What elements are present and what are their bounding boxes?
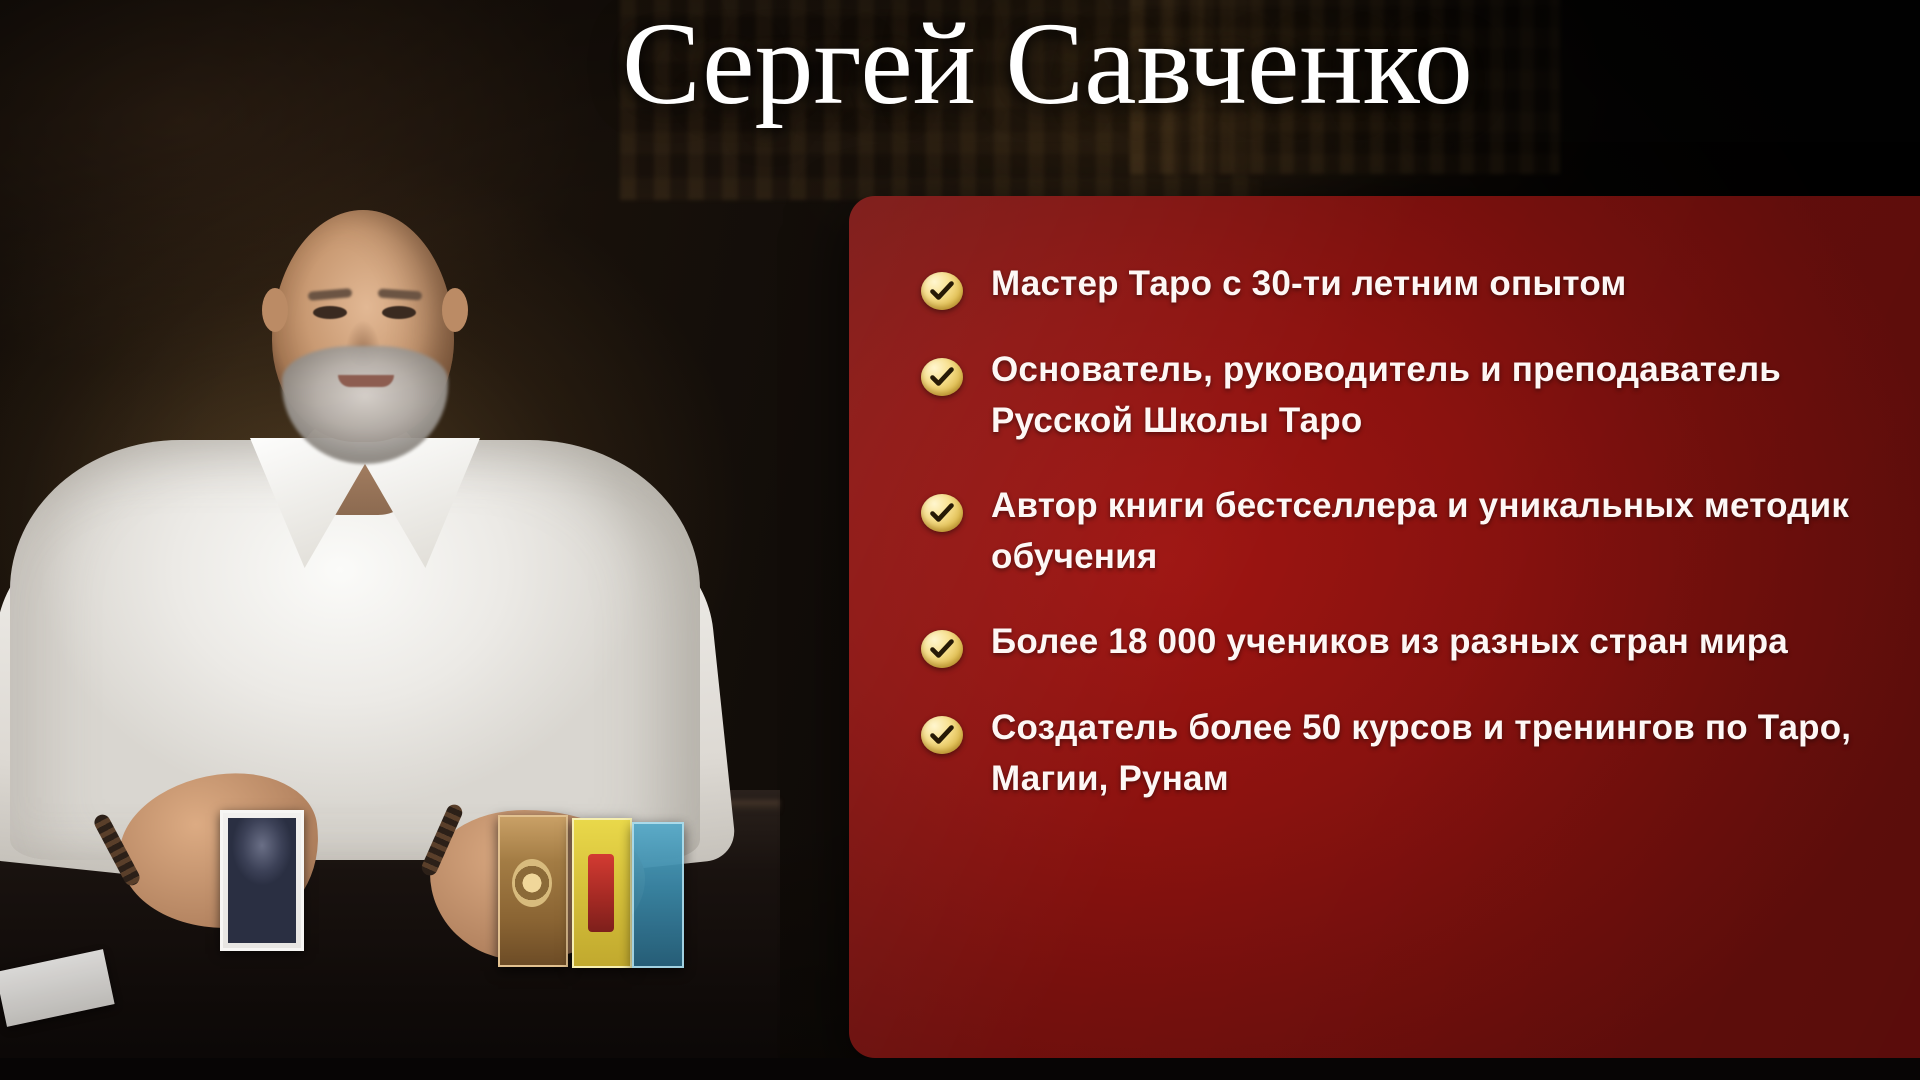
- tarot-deck-box-yellow: [572, 818, 632, 968]
- list-item: Автор книги бестселлера и уникальных мет…: [921, 480, 1920, 582]
- credential-text: Основатель, руководитель и преподаватель…: [991, 344, 1881, 446]
- credential-text: Мастер Таро с 30-ти летним опытом: [991, 258, 1627, 309]
- list-item: Более 18 000 учеников из разных стран ми…: [921, 616, 1920, 668]
- tarot-card-figure-left: [239, 886, 255, 932]
- check-circle-icon: [921, 630, 963, 668]
- list-item: Создатель более 50 курсов и тренингов по…: [921, 702, 1920, 804]
- tarot-deck-box-gold: [498, 815, 568, 967]
- credentials-list: Мастер Таро с 30-ти летним опытом Основа…: [921, 258, 1920, 805]
- tarot-card-in-hand: [220, 810, 304, 951]
- promo-banner: Сергей Савченко Мастер Таро с 30-ти летн…: [0, 0, 1920, 1080]
- ear-left: [262, 288, 288, 332]
- eye-left: [313, 306, 347, 319]
- list-item: Мастер Таро с 30-ти летним опытом: [921, 258, 1920, 310]
- check-circle-icon: [921, 272, 963, 310]
- ear-right: [442, 288, 468, 332]
- bottom-strip: [0, 1058, 1920, 1080]
- list-item: Основатель, руководитель и преподаватель…: [921, 344, 1920, 446]
- subject-photo: [0, 170, 760, 1080]
- credentials-panel: Мастер Таро с 30-ти летним опытом Основа…: [849, 196, 1920, 1058]
- check-circle-icon: [921, 358, 963, 396]
- tarot-card-figure-right: [267, 886, 283, 932]
- check-circle-icon: [921, 494, 963, 532]
- mouth: [338, 375, 394, 387]
- page-title: Сергей Савченко: [622, 2, 1473, 126]
- check-circle-icon: [921, 716, 963, 754]
- eye-right: [382, 306, 416, 319]
- credential-text: Автор книги бестселлера и уникальных мет…: [991, 480, 1881, 582]
- credential-text: Создатель более 50 курсов и тренингов по…: [991, 702, 1881, 804]
- tarot-deck-box-blue: [632, 822, 684, 968]
- credential-text: Более 18 000 учеников из разных стран ми…: [991, 616, 1788, 667]
